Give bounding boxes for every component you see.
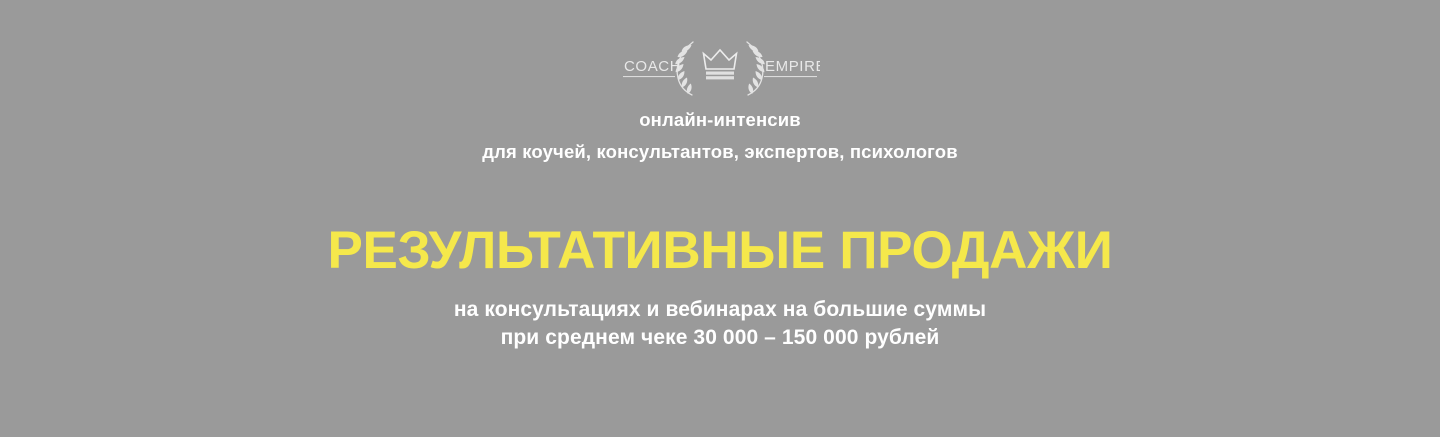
logo-svg: COACH EMPIRE bbox=[620, 38, 820, 96]
svg-text:COACH: COACH bbox=[624, 58, 681, 75]
body-text: на консультациях и вебинарах на большие … bbox=[454, 296, 986, 352]
subtitle-line-2: для коучей, консультантов, экспертов, пс… bbox=[482, 142, 958, 162]
body-line-2: при среднем чеке 30 000 – 150 000 рублей bbox=[454, 324, 986, 352]
page-title: РЕЗУЛЬТАТИВНЫЕ ПРОДАЖИ bbox=[327, 224, 1112, 278]
crown-icon bbox=[704, 50, 737, 79]
body-line-1: на консультациях и вебинарах на большие … bbox=[454, 296, 986, 324]
svg-text:EMPIRE: EMPIRE bbox=[765, 58, 820, 75]
subtitle-line-1: онлайн-интенсив bbox=[639, 110, 801, 130]
promo-banner: COACH EMPIRE COACH EMPIRE онлайн-интенси… bbox=[0, 0, 1440, 437]
coach-empire-logo: COACH EMPIRE COACH EMPIRE bbox=[620, 38, 820, 96]
